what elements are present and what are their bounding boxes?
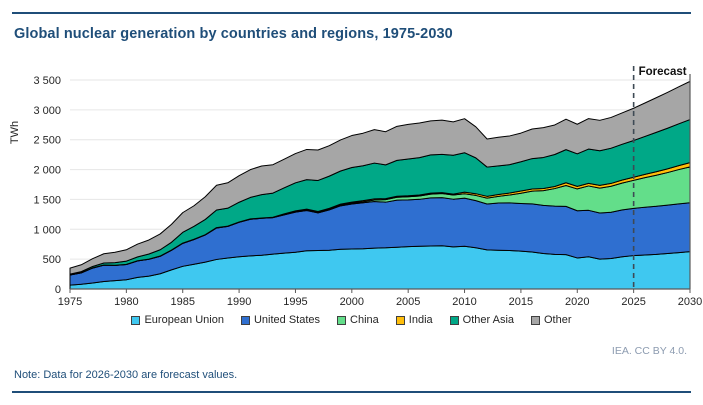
chart-note: Note: Data for 2026-2030 are forecast va… <box>14 369 237 381</box>
chart-legend: European UnionUnited StatesChinaIndiaOth… <box>0 314 703 326</box>
x-axis-tick-label: 2000 <box>340 296 364 308</box>
legend-item-label: China <box>350 314 379 326</box>
legend-swatch-icon <box>450 316 459 325</box>
legend-item[interactable]: European Union <box>131 314 224 326</box>
legend-item[interactable]: Other <box>531 314 572 326</box>
legend-item-label: Other <box>544 314 572 326</box>
y-axis-tick-label: 3 500 <box>33 75 61 87</box>
legend-swatch-icon <box>396 316 405 325</box>
legend-item-label: European Union <box>144 314 224 326</box>
bottom-divider <box>12 391 691 393</box>
y-axis-title: TWh <box>9 121 21 144</box>
y-axis-tick-label: 500 <box>43 254 61 266</box>
y-axis-tick-label: 1 000 <box>33 224 61 236</box>
x-axis-tick-label: 1990 <box>227 296 251 308</box>
top-divider <box>12 12 691 14</box>
y-axis-tick-label: 3 000 <box>33 105 61 117</box>
x-axis-tick-label: 1995 <box>283 296 307 308</box>
x-axis-tick-label: 2010 <box>452 296 476 308</box>
x-axis-tick-label: 2015 <box>509 296 533 308</box>
legend-item[interactable]: China <box>337 314 379 326</box>
stacked-area-chart: 05001 0001 5002 0002 5003 0003 500TWh197… <box>0 58 703 308</box>
legend-item-label: Other Asia <box>463 314 514 326</box>
x-axis-tick-label: 2005 <box>396 296 420 308</box>
forecast-label: Forecast <box>639 66 687 78</box>
legend-swatch-icon <box>241 316 250 325</box>
page-title: Global nuclear generation by countries a… <box>14 26 453 42</box>
legend-swatch-icon <box>131 316 140 325</box>
license-credit: IEA. CC BY 4.0. <box>612 345 687 357</box>
chart-plot-area: 05001 0001 5002 0002 5003 0003 500TWh197… <box>0 58 703 308</box>
x-axis-tick-label: 1985 <box>170 296 194 308</box>
legend-swatch-icon <box>337 316 346 325</box>
legend-item-label: United States <box>254 314 320 326</box>
x-axis-tick-label: 2025 <box>621 296 645 308</box>
y-axis-tick-label: 1 500 <box>33 194 61 206</box>
legend-item[interactable]: United States <box>241 314 320 326</box>
legend-item-label: India <box>409 314 433 326</box>
x-axis-tick-label: 1975 <box>58 296 82 308</box>
y-axis-tick-label: 2 000 <box>33 165 61 177</box>
y-axis-tick-label: 0 <box>55 284 61 296</box>
x-axis-tick-label: 2030 <box>678 296 702 308</box>
x-axis-tick-label: 1980 <box>114 296 138 308</box>
y-axis-tick-label: 2 500 <box>33 135 61 147</box>
x-axis-tick-label: 2020 <box>565 296 589 308</box>
legend-item[interactable]: India <box>396 314 433 326</box>
legend-item[interactable]: Other Asia <box>450 314 514 326</box>
legend-swatch-icon <box>531 316 540 325</box>
